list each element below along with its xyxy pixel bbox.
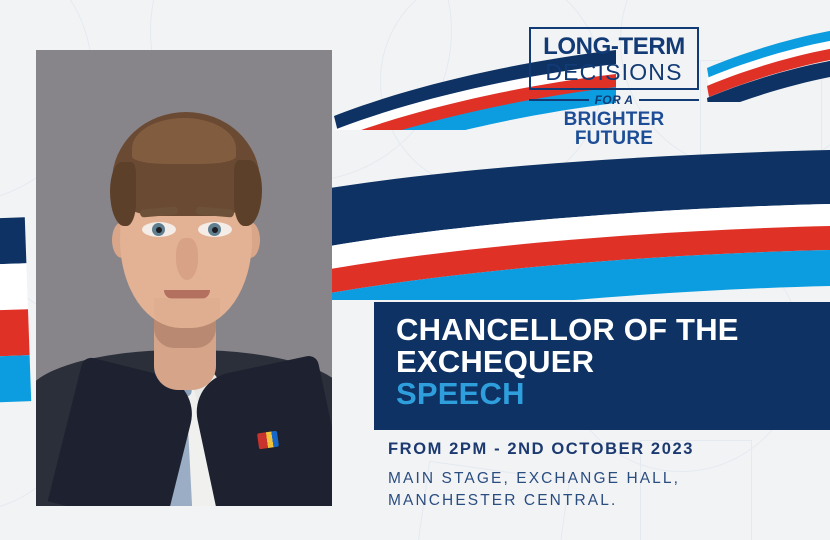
logo-rule-right: [639, 99, 699, 101]
logo-box: LONG-TERM DECISIONS: [529, 27, 699, 90]
title-line-1: CHANCELLOR OF THE: [396, 312, 739, 347]
campaign-logo: LONG-TERM DECISIONS FOR A BRIGHTER FUTUR…: [529, 27, 699, 148]
logo-rule-left: [529, 99, 589, 101]
hair-side-left: [110, 162, 136, 226]
title-line-2: EXCHEQUER: [396, 344, 594, 379]
chin: [154, 298, 220, 328]
nose: [176, 238, 198, 280]
stripe-white: [0, 263, 28, 311]
event-venue-line-2: MANCHESTER CENTRAL.: [388, 490, 694, 512]
event-poster: LONG-TERM DECISIONS FOR A BRIGHTER FUTUR…: [0, 0, 830, 540]
event-venue-line-1: MAIN STAGE, EXCHANGE HALL,: [388, 468, 694, 490]
logo-line-1: LONG-TERM: [539, 35, 689, 59]
page-title: CHANCELLOR OF THE EXCHEQUER SPEECH: [396, 314, 739, 410]
stripe-red: [0, 309, 30, 357]
stripe-navy: [0, 217, 26, 265]
uk-ukraine-flag-pin-icon: [257, 431, 279, 450]
logo-connector-row: FOR A: [529, 93, 699, 107]
ribbon-top-right: [705, 12, 830, 102]
ribbon-left-edge: [0, 217, 31, 402]
stripe-blue: [0, 355, 31, 403]
logo-connector: FOR A: [595, 93, 634, 107]
title-line-3: SPEECH: [396, 378, 739, 410]
logo-line-2: DECISIONS: [539, 60, 689, 84]
event-details: FROM 2PM - 2ND OCTOBER 2023 MAIN STAGE, …: [388, 440, 694, 513]
pupil-right: [212, 227, 218, 233]
portrait-photo: [36, 50, 332, 506]
pupil-left: [156, 227, 162, 233]
title-panel: CHANCELLOR OF THE EXCHEQUER SPEECH: [374, 302, 830, 430]
ribbon-middle-band: [330, 150, 830, 300]
logo-line-3: BRIGHTER FUTURE: [529, 110, 699, 148]
watermark-rect-right: [700, 60, 822, 212]
hair-side-right: [234, 160, 262, 226]
event-time: FROM 2PM - 2ND OCTOBER 2023: [388, 440, 694, 459]
